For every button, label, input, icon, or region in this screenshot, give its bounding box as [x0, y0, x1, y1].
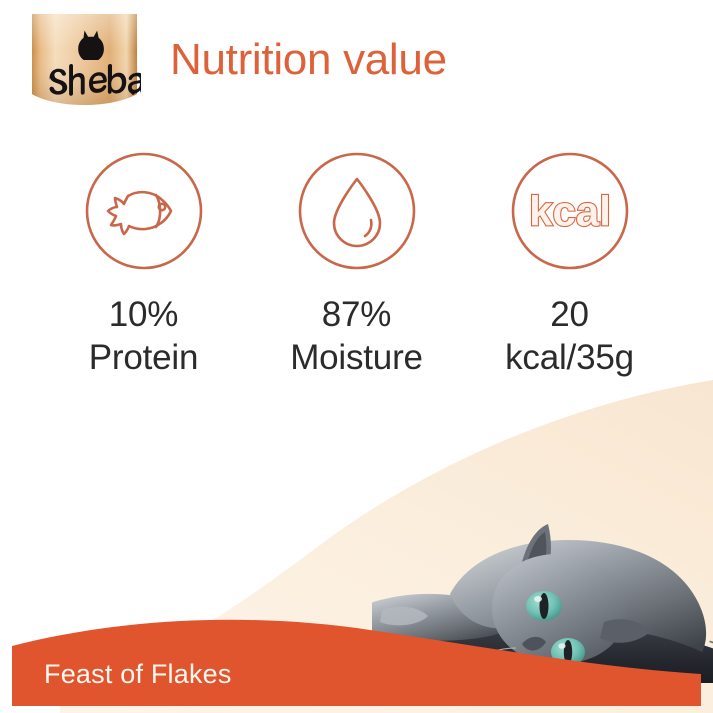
cat-photo-illustration — [372, 498, 713, 683]
icon-circle-outline — [300, 154, 414, 268]
nutrition-stat-moisture-label: Moisture — [290, 336, 423, 379]
nutrition-stat-kcal: kcal 20 kcal/35g — [463, 150, 676, 379]
nutrition-stat-moisture-text: 87% Moisture — [290, 293, 423, 379]
nutrition-stat-kcal-label: kcal/35g — [505, 336, 634, 379]
kcal-icon-label: kcal — [529, 188, 611, 235]
nutrition-value-card: Nutrition value 10% Protein — [0, 0, 713, 713]
nutrition-stat-protein-value: 10% — [89, 293, 199, 336]
page-title: Nutrition value — [170, 30, 590, 90]
cat-photo — [372, 498, 713, 683]
fish-icon — [83, 150, 205, 272]
nutrition-stat-kcal-value: 20 — [505, 293, 634, 336]
registered-mark-icon — [131, 91, 134, 94]
nutrition-stat-protein-label: Protein — [89, 336, 199, 379]
nutrition-stat-protein: 10% Protein — [37, 150, 250, 379]
nutrition-stat-kcal-text: 20 kcal/35g — [505, 293, 634, 379]
sheba-logo — [28, 8, 141, 116]
product-variant-label: Feast of Flakes — [44, 658, 232, 690]
nutrition-stat-moisture: 87% Moisture — [250, 150, 463, 379]
nutrition-stats-row: 10% Protein 87% Moisture kcal — [0, 150, 713, 379]
nutrition-stat-moisture-value: 87% — [290, 293, 423, 336]
kcal-icon: kcal — [509, 150, 631, 272]
icon-circle-outline — [87, 154, 201, 268]
nutrition-stat-protein-text: 10% Protein — [89, 293, 199, 379]
water-drop-icon — [296, 150, 418, 272]
